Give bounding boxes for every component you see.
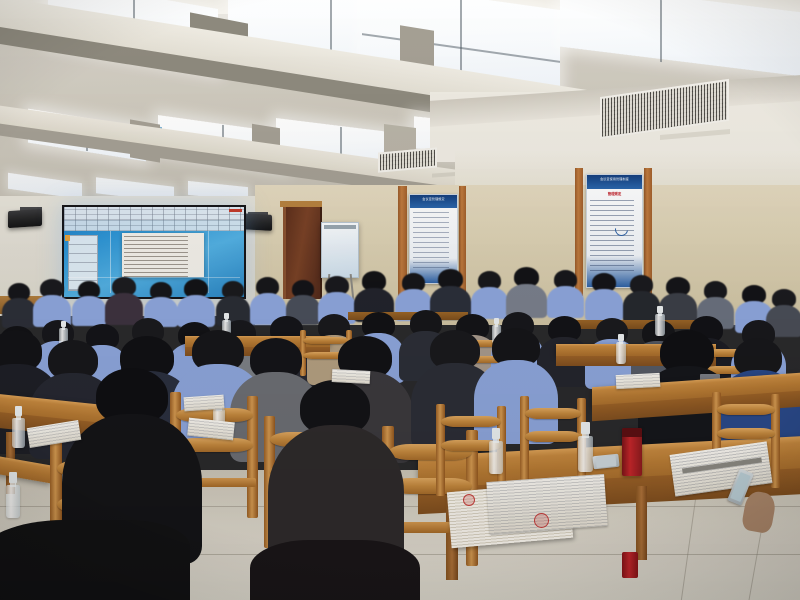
loose-papers xyxy=(184,395,225,412)
water-bottle xyxy=(489,428,503,474)
poster-left-header: 会议室管理规定 xyxy=(410,197,457,202)
loose-papers xyxy=(616,373,661,389)
slide-toolbar-secondary xyxy=(64,220,244,231)
water-bottle xyxy=(12,406,25,448)
wooden-chair[interactable] xyxy=(520,396,586,484)
attendee-foreground xyxy=(250,540,420,600)
red-seal-stamp xyxy=(463,494,475,506)
door-frame-top xyxy=(280,201,322,207)
red-thermos xyxy=(622,428,642,476)
poster-right-title: 管理规定 xyxy=(587,191,642,196)
water-bottle xyxy=(655,306,665,336)
water-bottle xyxy=(578,422,593,472)
table-leg xyxy=(636,486,647,560)
poster-right-header: 会议室使用管理制度 xyxy=(587,177,642,182)
water-bottle xyxy=(6,472,20,518)
attendee-foreground xyxy=(0,520,190,600)
loose-papers xyxy=(332,369,371,384)
beverage-can xyxy=(622,552,638,578)
water-bottle xyxy=(616,334,626,364)
conference-room-photo: 会议室管理规定 会议室使用管理制度 管理规定 xyxy=(0,0,800,600)
slide-toolbar xyxy=(64,207,244,220)
red-seal-stamp xyxy=(534,513,549,528)
slide-pane-tab xyxy=(65,235,70,241)
ceiling-light-panel xyxy=(560,0,800,77)
wall-speaker-left xyxy=(8,209,42,228)
smartphone[interactable] xyxy=(592,454,619,470)
slide-ribbon-accent xyxy=(229,209,242,212)
